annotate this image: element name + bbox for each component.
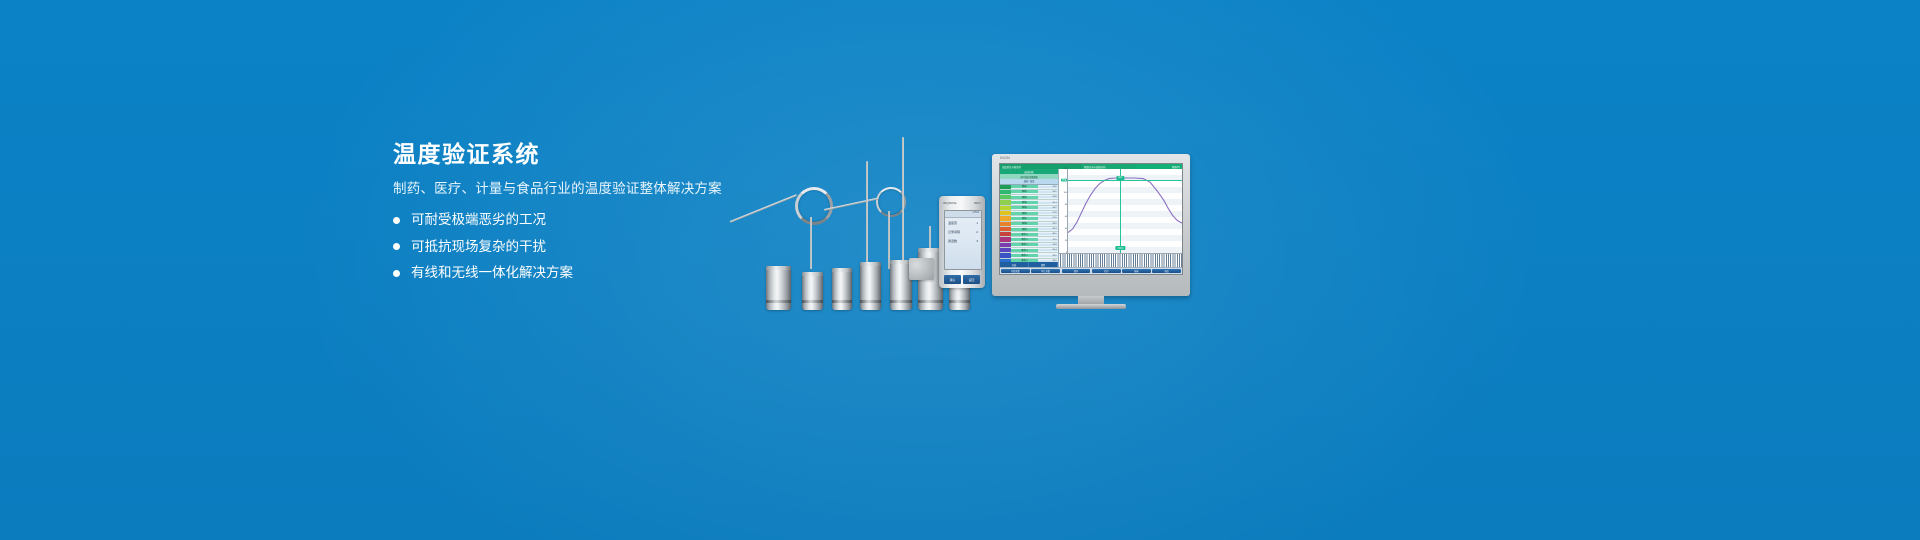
data-logger-cylinder [802, 272, 823, 310]
channel-name: 通道13 [1011, 249, 1038, 252]
handheld-brand: INQNIKE WF1 [939, 201, 985, 205]
channel-value: 28.5 [1038, 223, 1058, 225]
bullet-dot-icon [393, 243, 400, 250]
channel-name: 通道9 [1011, 228, 1038, 231]
handheld-row-value: 1 [976, 221, 978, 225]
channel-value: 27.0 [1038, 212, 1058, 214]
analysis-monitor: INON 温度验证分析软件 数据记录与曲线分析 帮助(H) 通道列表 实时温度采… [992, 154, 1190, 296]
channel-name: 通道2 [1011, 190, 1038, 193]
handheld-status: HT01 [945, 211, 981, 218]
chart-x-axis-strip [1059, 253, 1182, 267]
channel-name: 通道7 [1011, 217, 1038, 220]
channel-value: 29.3 [1038, 228, 1058, 230]
channel-color-swatch [1000, 185, 1011, 189]
channel-color-swatch [1000, 222, 1011, 226]
handheld-confirm-button[interactable]: 确认 [944, 275, 961, 284]
rigid-needle-probe-short [866, 161, 868, 269]
probe-wire [730, 194, 798, 223]
channel-name: 通道14 [1011, 254, 1038, 257]
bullet-dot-icon [393, 270, 400, 277]
data-logger-cylinder [860, 262, 881, 310]
channel-color-swatch [1000, 232, 1011, 236]
channel-value: 24.1 [1038, 191, 1058, 193]
temperature-chart[interactable]: 140120100806040200 限值 起点 时间点 [1067, 169, 1182, 253]
channel-color-swatch [1000, 195, 1011, 199]
handheld-keypad[interactable]: 确认 返回 [944, 275, 980, 284]
hero-banner: 温度验证系统 制药、医疗、计量与食品行业的温度验证整体解决方案 可耐受极端恶劣的… [0, 0, 1920, 540]
feature-label: 可抵抗现场复杂的干扰 [411, 240, 546, 254]
list-item: 记录间隔 2 [945, 227, 981, 236]
channel-color-swatch [1000, 243, 1011, 247]
channel-name: 通道5 [1011, 206, 1038, 209]
channel-color-swatch [1000, 216, 1011, 220]
channel-value: 27.9 [1038, 217, 1058, 219]
channel-value: 31.8 [1038, 244, 1058, 246]
channel-name: 通道11 [1011, 238, 1038, 241]
channel-table[interactable]: 通道123.6通道224.1通道324.8通道425.4通道526.2通道627… [1000, 185, 1058, 263]
chart-y-tick: 60 [1065, 216, 1067, 218]
channel-color-swatch [1000, 248, 1011, 252]
channel-value: 32.4 [1038, 249, 1058, 251]
channel-color-swatch [1000, 211, 1011, 215]
handheld-back-button[interactable]: 返回 [963, 275, 980, 284]
channel-name: 通道12 [1011, 243, 1038, 246]
rigid-needle-probe-tall [902, 137, 904, 269]
toolbar-button[interactable]: 退出 [1152, 269, 1181, 273]
chart-curve [1068, 169, 1182, 253]
handheld-brand-right: WF1 [974, 201, 981, 205]
handheld-brand-left: INQNIKE [943, 201, 957, 205]
cursor-bottom-label: 时间点 [1116, 246, 1125, 250]
toolbar-button[interactable]: 报表 [1122, 269, 1151, 273]
channel-value: 33.1 [1038, 255, 1058, 257]
monitor-screen: 温度验证分析软件 数据记录与曲线分析 帮助(H) 通道列表 实时温度采集数据 通… [999, 163, 1183, 275]
toolbar-button[interactable]: 停止采集 [1031, 269, 1060, 273]
handheld-row-value: 3 [976, 239, 978, 243]
chart-cursor-line[interactable] [1120, 169, 1121, 253]
chart-y-tick: 100 [1064, 192, 1067, 194]
channel-value: 30.1 [1038, 233, 1058, 235]
chart-y-tick: 140 [1064, 168, 1067, 170]
channel-data-panel: 通道列表 实时温度采集数据 通道 / 温度 通道123.6通道224.1通道32… [1000, 169, 1059, 267]
channel-name: 通道6 [1011, 212, 1038, 215]
cursor-top-label: 起点 [1117, 176, 1124, 180]
monitor-stand-base [1056, 304, 1126, 309]
list-item: 通道数 3 [945, 236, 981, 245]
toolbar-button[interactable]: 开始采集 [1001, 269, 1030, 273]
channel-value: 26.2 [1038, 207, 1058, 209]
feature-label: 可耐受极端恶劣的工况 [411, 213, 546, 227]
data-logger-cylinder [832, 268, 852, 310]
channel-name: 通道10 [1011, 233, 1038, 236]
channel-value: 25.4 [1038, 202, 1058, 204]
handheld-reader[interactable]: INQNIKE WF1 HT01 温度值 1 记录间隔 2 通道数 3 确认 返… [939, 196, 985, 288]
channel-name: 通道8 [1011, 222, 1038, 225]
channel-name: 通道1 [1011, 185, 1038, 188]
logger-antenna [929, 226, 931, 248]
channel-color-swatch [1000, 227, 1011, 231]
app-body: 通道列表 实时温度采集数据 通道 / 温度 通道123.6通道224.1通道32… [1000, 169, 1182, 267]
handheld-row-value: 2 [976, 230, 978, 234]
coiled-cable-probe-large [795, 187, 833, 225]
app-toolbar[interactable]: 开始采集停止采集保存打印报表退出 [1000, 267, 1182, 274]
chart-threshold-line: 限值 [1068, 180, 1182, 181]
channel-color-swatch [1000, 253, 1011, 257]
monitor-brand: INON [1000, 156, 1010, 160]
chart-y-tick: 80 [1065, 204, 1067, 206]
toolbar-button[interactable]: 保存 [1062, 269, 1091, 273]
bullet-dot-icon [393, 217, 400, 224]
channel-value: 23.6 [1038, 186, 1058, 188]
channel-color-swatch [1000, 237, 1011, 241]
feature-label: 有线和无线一体化解决方案 [411, 266, 573, 280]
list-item: 温度值 1 [945, 218, 981, 227]
data-logger-cylinder [766, 266, 791, 310]
chart-y-tick: 40 [1065, 228, 1067, 230]
channel-color-swatch [1000, 206, 1011, 210]
channel-name: 通道3 [1011, 196, 1038, 199]
channel-name: 通道4 [1011, 201, 1038, 204]
handheld-row-label: 温度值 [948, 221, 957, 225]
channel-value: 24.8 [1038, 196, 1058, 198]
toolbar-button[interactable]: 打印 [1092, 269, 1121, 273]
probe-stem [810, 217, 812, 269]
channel-value: 31.0 [1038, 239, 1058, 241]
handheld-row-label: 记录间隔 [948, 230, 960, 234]
channel-color-swatch [1000, 200, 1011, 204]
foam-sensor-block [909, 258, 934, 280]
handheld-screen: HT01 温度值 1 记录间隔 2 通道数 3 [944, 210, 982, 270]
channel-color-swatch [1000, 190, 1011, 194]
handheld-row-label: 通道数 [948, 239, 957, 243]
threshold-label: 限值 [1061, 179, 1067, 182]
chart-panel: 140120100806040200 限值 起点 时间点 [1059, 169, 1182, 267]
chart-y-tick: 20 [1065, 240, 1067, 242]
